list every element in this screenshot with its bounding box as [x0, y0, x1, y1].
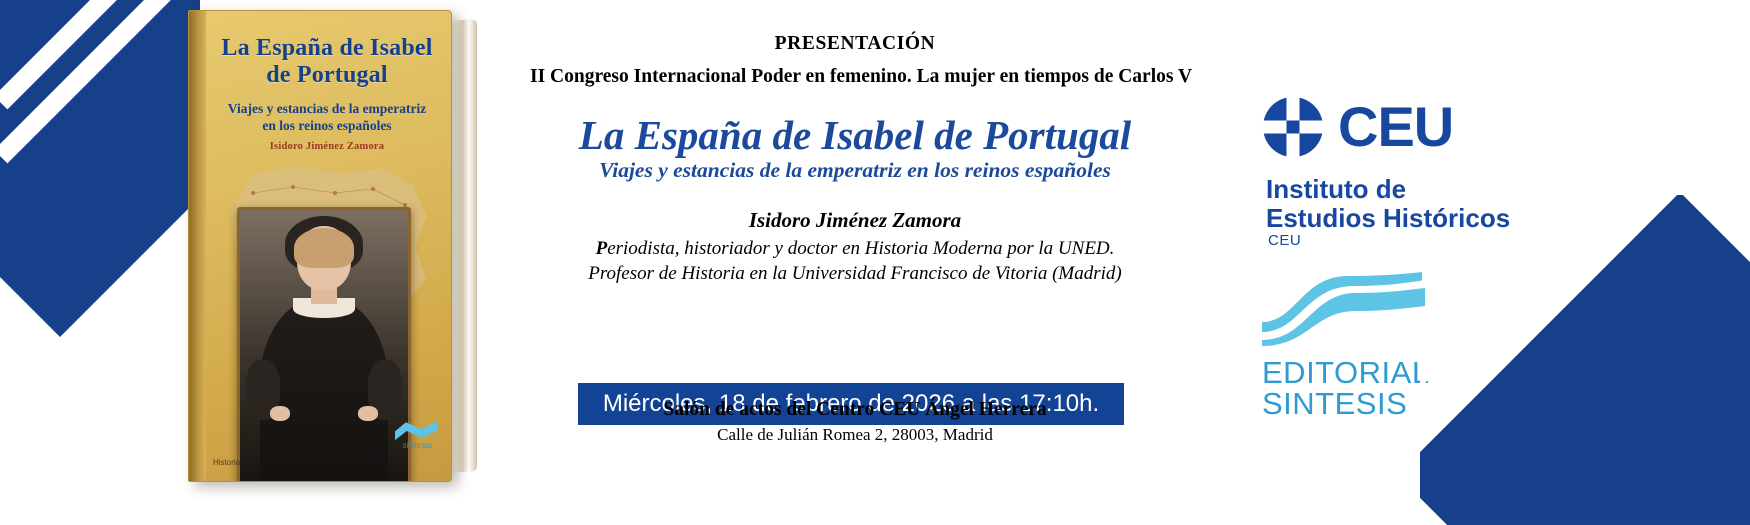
presentation-kicker: PRESENTACIÓN [530, 33, 1180, 55]
ceu-cross-circle-icon [1262, 96, 1324, 158]
isabel-portrait [237, 207, 411, 482]
portrait-hand-right [358, 406, 378, 421]
speaker-name: Isidoro Jiménez Zamora [530, 208, 1180, 233]
event-venue: Salón de actos del Centro CEU Ángel Herr… [530, 399, 1180, 421]
book-front-cover: La España de Isabel de Portugal Viajes y… [188, 10, 452, 482]
congress-line: II Congreso Internacional Poder en femen… [530, 66, 1180, 88]
book-publisher-name: SÍNTESIS [395, 443, 439, 450]
event-address: Calle de Julián Romea 2, 28003, Madrid [530, 425, 1180, 445]
book-collection-label: Historia [213, 458, 240, 467]
speaker-bio: Periodista, historiador y doctor en Hist… [575, 236, 1135, 286]
speaker-bio-dropcap: P [596, 238, 608, 259]
portrait-hand-left [270, 406, 290, 421]
book-cover-title: La España de Isabel de Portugal [213, 35, 441, 89]
book-cover-subtitle-line1: Viajes y estancias de la emperatriz [213, 101, 441, 118]
institute-ceu-label: CEU [1268, 232, 1301, 249]
sintesis-wave-icon [395, 421, 437, 441]
book-cover-author: Isidoro Jiménez Zamora [213, 141, 441, 152]
book-cover-subtitle-line2: en los reinos españoles [213, 118, 441, 135]
portrait-hair [294, 228, 354, 268]
speaker-bio-text: eriodista, historiador y doctor en Histo… [588, 238, 1122, 284]
book-cover-title-line2: de Portugal [213, 62, 441, 89]
ceu-wordmark: CEU [1338, 99, 1453, 155]
event-poster: La España de Isabel de Portugal Viajes y… [0, 0, 1750, 525]
ceu-logo: CEU [1262, 96, 1453, 158]
event-subtitle: Viajes y estancias de la emperatriz en l… [530, 158, 1180, 183]
sintesis-wave-icon [1262, 262, 1430, 346]
event-title: La España de Isabel de Portugal [530, 114, 1180, 157]
book-spine [189, 11, 206, 481]
book-publisher-logo: SÍNTESIS [395, 421, 439, 471]
book-cover-image: La España de Isabel de Portugal Viajes y… [168, 6, 518, 519]
corner-decoration-bottom-right [1420, 195, 1750, 525]
event-details: PRESENTACIÓN II Congreso Internacional P… [530, 0, 1180, 525]
book-cover-title-line1: La España de Isabel [213, 35, 441, 62]
book-cover-subtitle: Viajes y estancias de la emperatriz en l… [213, 101, 441, 135]
